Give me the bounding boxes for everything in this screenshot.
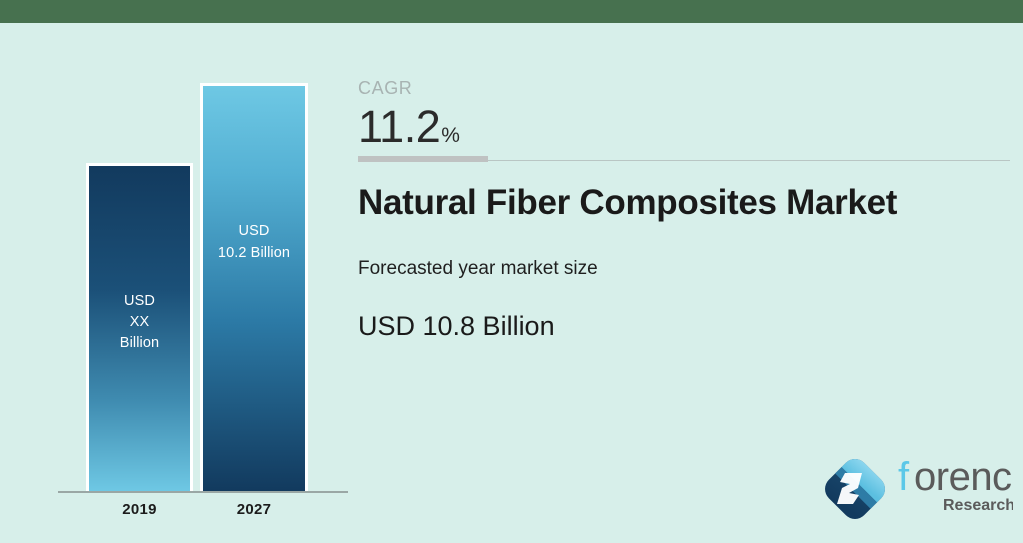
x-tick-2027: 2027 [200,501,308,518]
forencis-diamond-icon [820,454,890,524]
forecast-market-size: USD 10.8 Billion [358,311,555,342]
page-title: Natural Fiber Composites Market [358,183,897,223]
bar-2019-value-label: USD XX Billion [120,291,159,354]
bar-2019: USD XX Billion [86,163,193,491]
top-accent-band [0,0,1023,23]
cagr-percent-sign: % [441,124,460,148]
logo-text: f orencis Research [898,456,1013,516]
svg-text:orencis: orencis [914,456,1013,499]
x-axis-tick-labels: 2019 2027 [0,501,348,535]
forencis-research-logo: f orencis Research [820,450,1013,528]
x-axis-line [58,491,348,493]
x-tick-2019: 2019 [86,501,193,518]
infographic-root: USD XX Billion USD 10.2 Billion 2019 202… [0,0,1023,543]
bar-2027: USD 10.2 Billion [200,83,308,491]
bars-area: USD XX Billion USD 10.2 Billion [0,23,348,491]
divider-accent-segment [358,156,488,162]
svg-text:f: f [898,456,910,499]
bar-2027-value-label: USD 10.2 Billion [218,221,290,263]
cagr-number: 11.2 [358,101,440,153]
forecast-subtitle: Forecasted year market size [358,258,598,280]
bar-chart: USD XX Billion USD 10.2 Billion 2019 202… [0,23,348,543]
cagr-value: 11.2 % [358,101,460,153]
cagr-label: CAGR [358,78,412,99]
logo-wordmark: f orencis Research [898,456,1013,521]
svg-text:Research: Research [943,497,1013,514]
